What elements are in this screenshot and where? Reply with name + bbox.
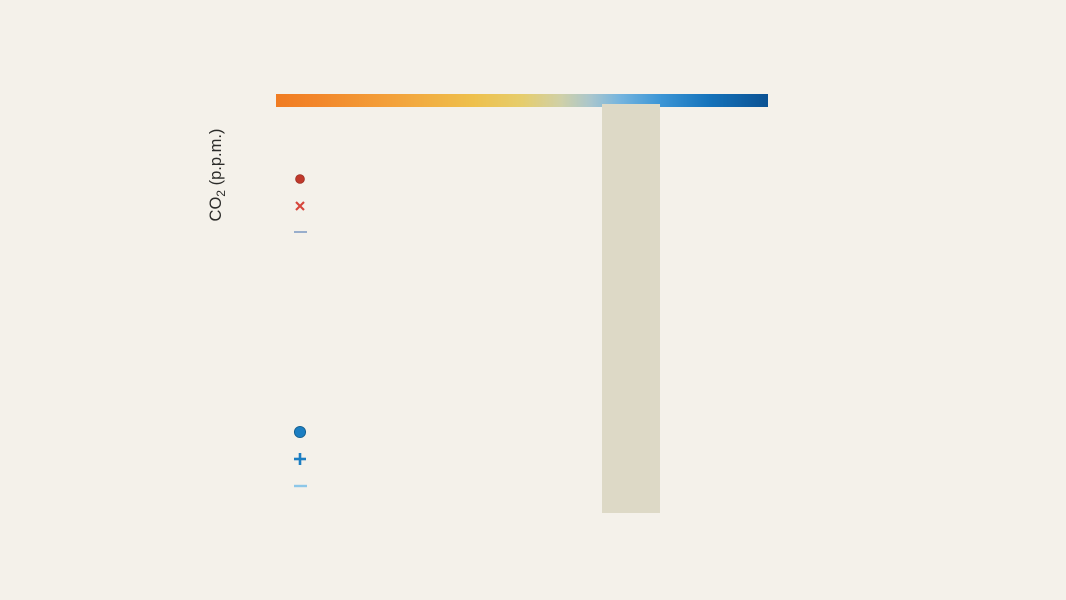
glacial-cycle-gradient-bar [276, 94, 768, 107]
mpt-shaded-band [602, 104, 660, 513]
figure-background [0, 0, 1066, 600]
figure-root: CO2 (p.p.m.) [0, 0, 1066, 600]
legend-marker-deep-sample-mot [294, 426, 305, 437]
legend-marker-deep-sample-co2 [296, 175, 305, 184]
co2-axis-label: CO2 (p.p.m.) [207, 129, 228, 222]
